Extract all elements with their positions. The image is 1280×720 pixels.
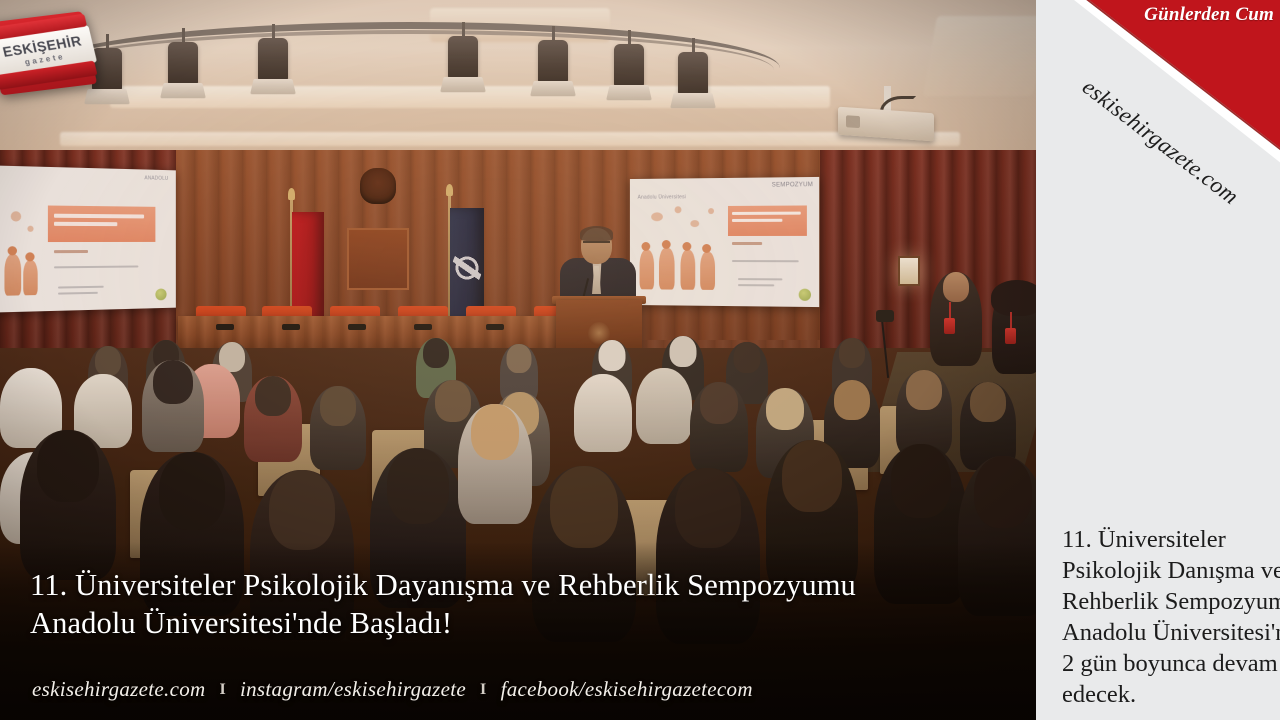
person-head [734, 342, 761, 373]
slide-brand-mark: ANADOLU [144, 175, 168, 181]
person-head [943, 272, 969, 302]
person-head [159, 452, 225, 530]
audience-member [310, 386, 366, 470]
stage-spotlight [258, 38, 288, 82]
slide-illustration-figure [4, 254, 21, 295]
slide-body-line [732, 260, 799, 262]
news-photo-card: Günlerden Cum eskisehirgazete.com 11. Ün… [0, 0, 1280, 720]
slide-illustration-figure [680, 250, 695, 290]
slide-decor-dot [27, 226, 33, 232]
audience-member [690, 382, 748, 472]
slide-logo-badge [799, 289, 811, 301]
panel-microphone [282, 324, 300, 330]
social-separator: I [219, 681, 226, 699]
slide-date-line [54, 250, 88, 253]
social-link-facebook[interactable]: facebook/eskisehirgazetecom [501, 677, 753, 702]
slide-title-line [732, 219, 782, 222]
person-head [891, 444, 951, 518]
speaker-glasses [583, 241, 610, 247]
stage-spotlight [678, 52, 708, 96]
slide-body-line [58, 286, 104, 289]
person-head [269, 470, 335, 550]
person-head [423, 338, 449, 368]
sidebar: Günlerden Cum eskisehirgazete.com 11. Ün… [1035, 0, 1280, 720]
speaker-hair [580, 226, 613, 241]
person-head [700, 382, 738, 424]
person-head [970, 382, 1006, 422]
slide-illustration-figure [640, 250, 655, 290]
slide-illustration-figure [700, 252, 715, 290]
slide-illustration-figure [23, 260, 37, 295]
eskisehir-gazete-logo[interactable]: ESKİŞEHİR gazete [0, 6, 107, 103]
slide-decor-dot [651, 212, 663, 221]
caption-title: 11. Üniversiteler Psikolojik Dayanışma v… [30, 566, 1020, 642]
audience-member [244, 376, 302, 462]
staff-badge [944, 318, 955, 334]
slide-illustration-head [702, 244, 711, 253]
person-head [387, 448, 449, 524]
person-head [37, 430, 99, 502]
standing-staff-member [930, 272, 982, 366]
person-head-scarf [670, 336, 697, 367]
person-head [471, 404, 519, 460]
person-head [95, 346, 121, 376]
slide-illustration-head [662, 240, 671, 249]
stage-spotlight [168, 42, 198, 86]
ceiling-panel [923, 16, 1036, 96]
panel-microphone [486, 324, 504, 330]
corner-banner-white-stripe [1035, 0, 1280, 216]
staff-badge [1005, 328, 1016, 344]
wall-sconce-light [898, 256, 920, 286]
sidebar-article-excerpt: 11. Üniversiteler Psikolojik Danışma ve … [1062, 524, 1280, 710]
caption-social-row: eskisehirgazete.com I instagram/eskisehi… [32, 677, 753, 702]
panel-microphone [414, 324, 432, 330]
stage-spotlight [448, 36, 478, 80]
slide-decor-dot [675, 206, 682, 213]
audience-member [458, 404, 532, 524]
slide-title-line [54, 222, 117, 226]
person-head [320, 386, 356, 426]
corner-banner-red-fill [1035, 0, 1280, 216]
flag-finial [446, 184, 453, 196]
slide-decor-dot [690, 220, 699, 227]
person-head [153, 360, 193, 404]
slide-brand-mark: SEMPOZYUM [772, 182, 813, 188]
person-hair [991, 280, 1036, 316]
slide-illustration-figure [659, 248, 675, 290]
slide-body-line [738, 278, 782, 280]
slide-date-line [732, 242, 762, 245]
projection-screen-left: ANADOLU [0, 165, 176, 312]
ceiling-skylight [60, 132, 960, 146]
ataturk-relief [360, 168, 396, 204]
slide-decor-dot [11, 211, 21, 221]
audience-member-headscarf [636, 368, 692, 444]
person-head [839, 338, 865, 368]
slide-body-line [738, 284, 774, 286]
person-head [435, 380, 471, 422]
projector-lens [846, 115, 860, 128]
person-head [675, 468, 741, 548]
stage-spotlight [614, 44, 644, 88]
audience-member-headscarf [574, 374, 632, 452]
university-flag-logo [452, 248, 482, 288]
corner-banner [1035, 0, 1280, 216]
slide-title-line [732, 212, 801, 215]
stage-spotlight [538, 40, 568, 84]
panel-microphone [348, 324, 366, 330]
corner-banner-dark-edge [1035, 0, 1280, 216]
person-head [766, 388, 804, 430]
slide-body-line [54, 265, 138, 268]
audience-member [20, 430, 116, 580]
person-head [834, 380, 870, 420]
person-head [255, 376, 291, 416]
audience-member [142, 360, 204, 452]
panel-microphone [216, 324, 234, 330]
person-head-scarf [599, 340, 626, 371]
slide-body-line [58, 292, 98, 295]
projection-screen-right: SEMPOZYUM Anadolu Üniversitesi [630, 177, 819, 307]
person-head [782, 440, 842, 512]
social-link-instagram[interactable]: instagram/eskisehirgazete [240, 677, 466, 702]
person-head [507, 344, 532, 373]
person-head [550, 466, 618, 548]
slide-brand-mark: Anadolu Üniversitesi [638, 194, 686, 200]
banner-date-text: Günlerden Cum [1144, 4, 1274, 26]
person-head [906, 370, 942, 410]
slide-illustration-head [682, 242, 691, 251]
flag-finial [288, 188, 295, 200]
slide-decor-dot [708, 208, 714, 214]
slide-illustration-head [8, 246, 17, 255]
slide-illustration-head [641, 242, 650, 251]
social-separator: I [480, 681, 487, 699]
news-photo: ANADOLU SEMPOZYUM Anadolu Üniversitesi [0, 0, 1036, 720]
person-head [974, 456, 1032, 528]
slide-title-line [54, 214, 144, 219]
social-link-website[interactable]: eskisehirgazete.com [32, 677, 205, 702]
slide-logo-badge [155, 288, 166, 300]
wall-plaque [347, 228, 409, 290]
camera-tripod-head [876, 310, 894, 322]
banner-site-url[interactable]: eskisehirgazete.com [1077, 74, 1243, 210]
slide-illustration-head [25, 252, 34, 261]
